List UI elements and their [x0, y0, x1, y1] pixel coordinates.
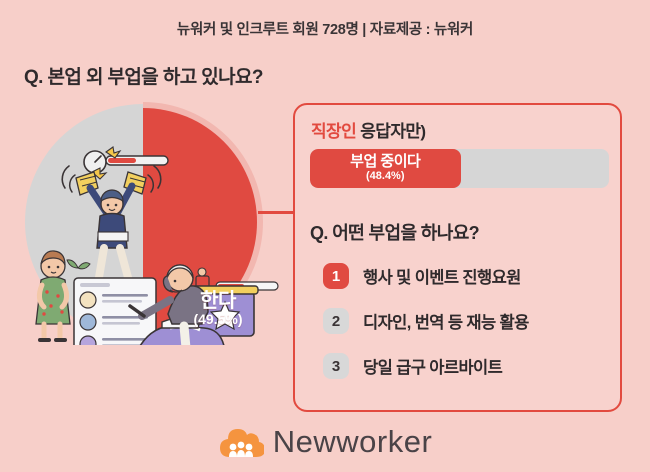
source-line: 뉴워커 및 인크루트 회원 728명 | 자료제공 : 뉴워커: [0, 18, 650, 39]
detail-panel: 직장인 응답자만) 부업 중이다 (48.4%) Q. 어떤 부업을 하나요? …: [293, 103, 622, 412]
progress-bar-percent: (48.4%): [366, 171, 405, 183]
rank-label-3: 당일 급구 아르바이트: [363, 354, 502, 378]
pie-slice-label-text: 한다: [170, 290, 266, 312]
pie-slice-label: 한다 (49.5%): [170, 290, 266, 328]
list-item: 1 행사 및 이벤트 진행요원: [323, 260, 613, 292]
brand-name: Newworker: [273, 424, 433, 460]
gauge-icon: [84, 147, 168, 179]
rank-label-2: 디자인, 번역 등 재능 활용: [363, 309, 529, 333]
panel-title-highlight: 직장인: [311, 122, 356, 141]
rank-badge-2: 2: [323, 308, 349, 334]
progress-bar-track: 부업 중이다 (48.4%): [310, 149, 609, 188]
pie-slice-label-percent: (49.5%): [170, 312, 266, 328]
footer-logo: Newworker: [0, 418, 650, 466]
ranking-list: 1 행사 및 이벤트 진행요원 2 디자인, 번역 등 재능 활용 3 당일 급…: [323, 260, 613, 395]
rank-badge-1: 1: [323, 263, 349, 289]
progress-bar-label: 부업 중이다: [350, 154, 420, 170]
pie-chart: 한다 (49.5%): [20, 100, 280, 345]
page-title: Q. 본업 외 부업을 하고 있나요?: [24, 62, 263, 89]
panel-question: Q. 어떤 부업을 하나요?: [310, 219, 479, 245]
pie-to-panel-connector: [258, 211, 298, 214]
list-item: 3 당일 급구 아르바이트: [323, 350, 613, 382]
cloud-people-icon: [218, 425, 264, 459]
list-item: 2 디자인, 번역 등 재능 활용: [323, 305, 613, 337]
rank-label-1: 행사 및 이벤트 진행요원: [363, 264, 521, 288]
panel-title: 직장인 응답자만): [311, 117, 425, 142]
progress-bar-fill: 부업 중이다 (48.4%): [310, 149, 461, 188]
panel-title-rest: 응답자만): [356, 122, 425, 141]
rank-badge-3: 3: [323, 353, 349, 379]
